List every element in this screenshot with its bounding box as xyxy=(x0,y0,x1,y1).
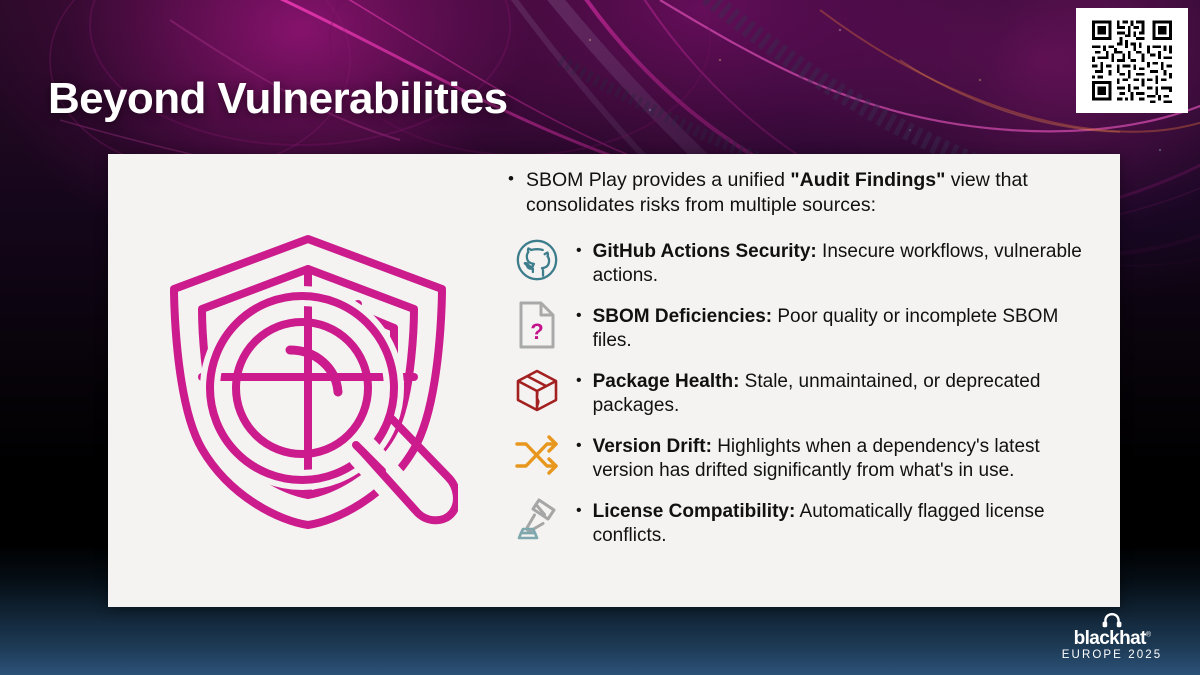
slide-root: Beyond Vulnerabilities xyxy=(0,0,1200,675)
bullet-icon: • xyxy=(576,370,582,419)
blackhat-headphones-icon xyxy=(1101,612,1123,628)
blackhat-logo: blackhat® EUROPE 2025 xyxy=(1042,612,1182,662)
svg-text:?: ? xyxy=(530,319,543,344)
list-item: • GitHub Actions Security: Insecure work… xyxy=(508,231,1096,289)
finding-body: Version Drift: Highlights when a depende… xyxy=(593,435,1096,484)
finding-body: GitHub Actions Security: Insecure workfl… xyxy=(593,240,1096,289)
github-icon xyxy=(508,231,566,289)
registered-mark: ® xyxy=(1146,632,1151,639)
finding-text: • GitHub Actions Security: Insecure work… xyxy=(576,231,1096,289)
blackhat-subtitle: EUROPE 2025 xyxy=(1042,650,1182,662)
blackhat-wordmark: blackhat® xyxy=(1042,629,1182,648)
finding-term: Package Health: xyxy=(593,371,740,392)
qr-code-icon xyxy=(1083,15,1181,106)
qr-code[interactable] xyxy=(1076,8,1188,113)
finding-body: License Compatibility: Automatically fla… xyxy=(593,500,1096,549)
cracked-package-icon xyxy=(508,361,566,419)
document-question-icon: ? xyxy=(508,296,566,354)
shield-magnifier-icon xyxy=(158,225,458,537)
finding-text: • SBOM Deficiencies: Poor quality or inc… xyxy=(576,296,1096,354)
bullet-icon: • xyxy=(576,240,582,289)
findings-panel: • SBOM Play provides a unified "Audit Fi… xyxy=(508,154,1120,607)
finding-text: • License Compatibility: Automatically f… xyxy=(576,491,1096,549)
bullet-icon: • xyxy=(508,168,514,219)
bullet-icon: • xyxy=(576,305,582,354)
finding-term: Version Drift: xyxy=(593,436,712,457)
hero-illustration xyxy=(108,154,508,607)
shuffle-arrows-icon xyxy=(508,426,566,484)
list-item: • License Compatibility: Automatically f… xyxy=(508,491,1096,549)
gavel-icon xyxy=(508,491,566,549)
intro-paragraph: • SBOM Play provides a unified "Audit Fi… xyxy=(508,168,1096,219)
bullet-icon: • xyxy=(576,500,582,549)
intro-text-part1: SBOM Play provides a unified xyxy=(526,169,790,191)
content-card: • SBOM Play provides a unified "Audit Fi… xyxy=(108,154,1120,607)
intro-quoted-term: "Audit Findings" xyxy=(790,169,945,191)
list-item: • Version Drift: Highlights when a depen… xyxy=(508,426,1096,484)
blackhat-word-hat: hat xyxy=(1119,628,1146,649)
page-title: Beyond Vulnerabilities xyxy=(48,74,508,124)
bullet-icon: • xyxy=(576,435,582,484)
finding-body: Package Health: Stale, unmaintained, or … xyxy=(593,370,1096,419)
list-item: • Package Health: Stale, unmaintained, o… xyxy=(508,361,1096,419)
intro-text: SBOM Play provides a unified "Audit Find… xyxy=(526,168,1090,219)
list-item: ? • SBOM Deficiencies: Poor quality or i… xyxy=(508,296,1096,354)
finding-term: GitHub Actions Security: xyxy=(593,241,817,262)
finding-text: • Version Drift: Highlights when a depen… xyxy=(576,426,1096,484)
blackhat-word-black: black xyxy=(1074,628,1120,649)
findings-list: • GitHub Actions Security: Insecure work… xyxy=(508,231,1096,549)
finding-term: SBOM Deficiencies: xyxy=(593,306,773,327)
finding-body: SBOM Deficiencies: Poor quality or incom… xyxy=(593,305,1096,354)
finding-term: License Compatibility: xyxy=(593,501,796,522)
finding-text: • Package Health: Stale, unmaintained, o… xyxy=(576,361,1096,419)
